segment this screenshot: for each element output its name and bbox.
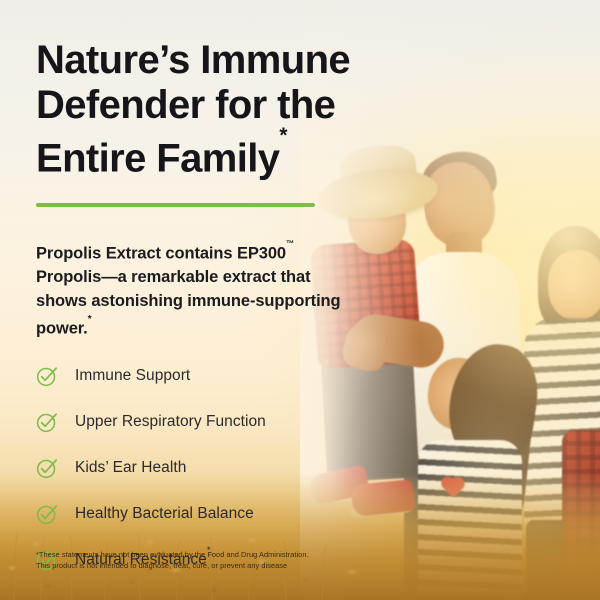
ad-copy: Nature’s Immune Defender for the Entire … [0,0,600,600]
lede-text-part-1: Propolis Extract contains EP300 [36,245,286,263]
green-divider [36,203,315,207]
headline-line-2: Defender for the [36,83,335,127]
list-item: Healthy Bacterial Balance [36,496,336,531]
list-item: Upper Respiratory Function [36,404,336,439]
check-circle-icon [36,503,58,525]
disclaimer-line-1: *These statements have not been evaluate… [36,550,366,561]
list-item: Kids’ Ear Health [36,450,336,485]
disclaimer-line-2: This product is not intended to diagnose… [36,561,366,572]
list-item: Immune Support [36,358,336,393]
lede-paragraph: Propolis Extract contains EP300™ Propoli… [36,238,354,341]
benefit-text: Kids’ Ear Health [75,459,186,476]
page-title: Nature’s Immune Defender for the Entire … [36,38,396,181]
lede-footnote-mark: * [88,314,92,325]
benefit-text: Immune Support [75,367,190,384]
list-item-label: Healthy Bacterial Balance [75,504,254,523]
lede-text-part-2: Propolis—a remarkable extract that shows… [36,268,341,338]
check-circle-icon [36,457,58,479]
benefit-text: Upper Respiratory Function [75,413,266,430]
headline-line-3: Entire Family [36,136,279,180]
list-item-label: Kids’ Ear Health [75,458,186,477]
headline-footnote-mark: * [279,124,287,147]
list-item-label: Upper Respiratory Function [75,412,266,431]
headline-line-1: Nature’s Immune [36,38,350,82]
fda-disclaimer: *These statements have not been evaluate… [36,550,366,571]
check-circle-icon [36,365,58,387]
benefit-text: Healthy Bacterial Balance [75,505,254,522]
advertisement-image: Nature’s Immune Defender for the Entire … [0,0,600,600]
trademark-symbol: ™ [286,239,294,248]
check-circle-icon [36,411,58,433]
list-item-label: Immune Support [75,366,190,385]
